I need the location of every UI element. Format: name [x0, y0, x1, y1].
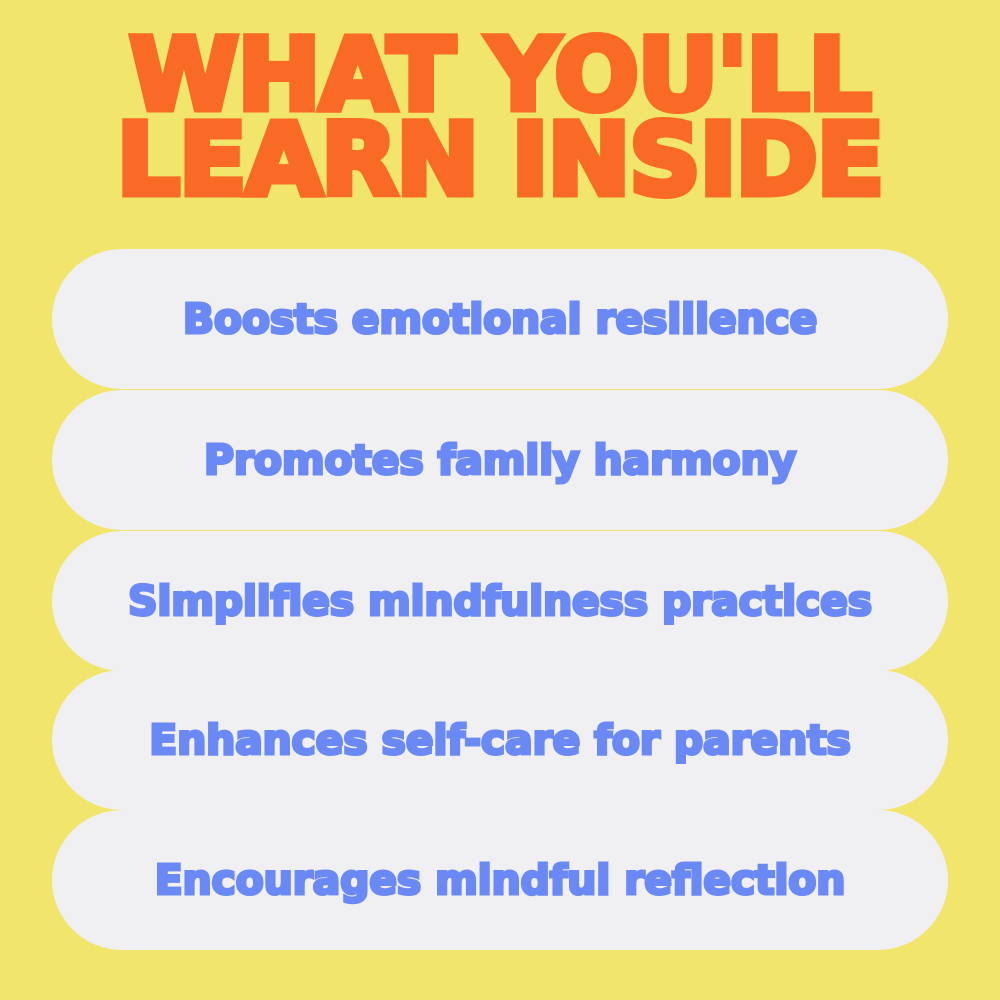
benefit-list: Boosts emotional resilience Promotes fam…	[52, 249, 948, 950]
promo-poster: WHAT YOU'LL LEARN INSIDE Boosts emotiona…	[0, 0, 1000, 1000]
list-item: Simplifies mindfulness practices	[52, 531, 948, 671]
page-title-line-2: LEARN INSIDE	[0, 119, 1000, 202]
list-item: Encourages mindful reflection	[52, 810, 948, 950]
list-item: Enhances self-care for parents	[52, 670, 948, 810]
benefit-label: Boosts emotional resilience	[183, 299, 817, 340]
list-item: Boosts emotional resilience	[52, 249, 948, 389]
benefit-label: Encourages mindful reflection	[155, 860, 845, 901]
benefit-label: Simplifies mindfulness practices	[128, 581, 872, 622]
benefit-label: Promotes family harmony	[204, 440, 796, 481]
page-title: WHAT YOU'LL LEARN INSIDE	[0, 34, 1000, 202]
list-item: Promotes family harmony	[52, 390, 948, 530]
benefit-label: Enhances self-care for parents	[149, 720, 850, 761]
